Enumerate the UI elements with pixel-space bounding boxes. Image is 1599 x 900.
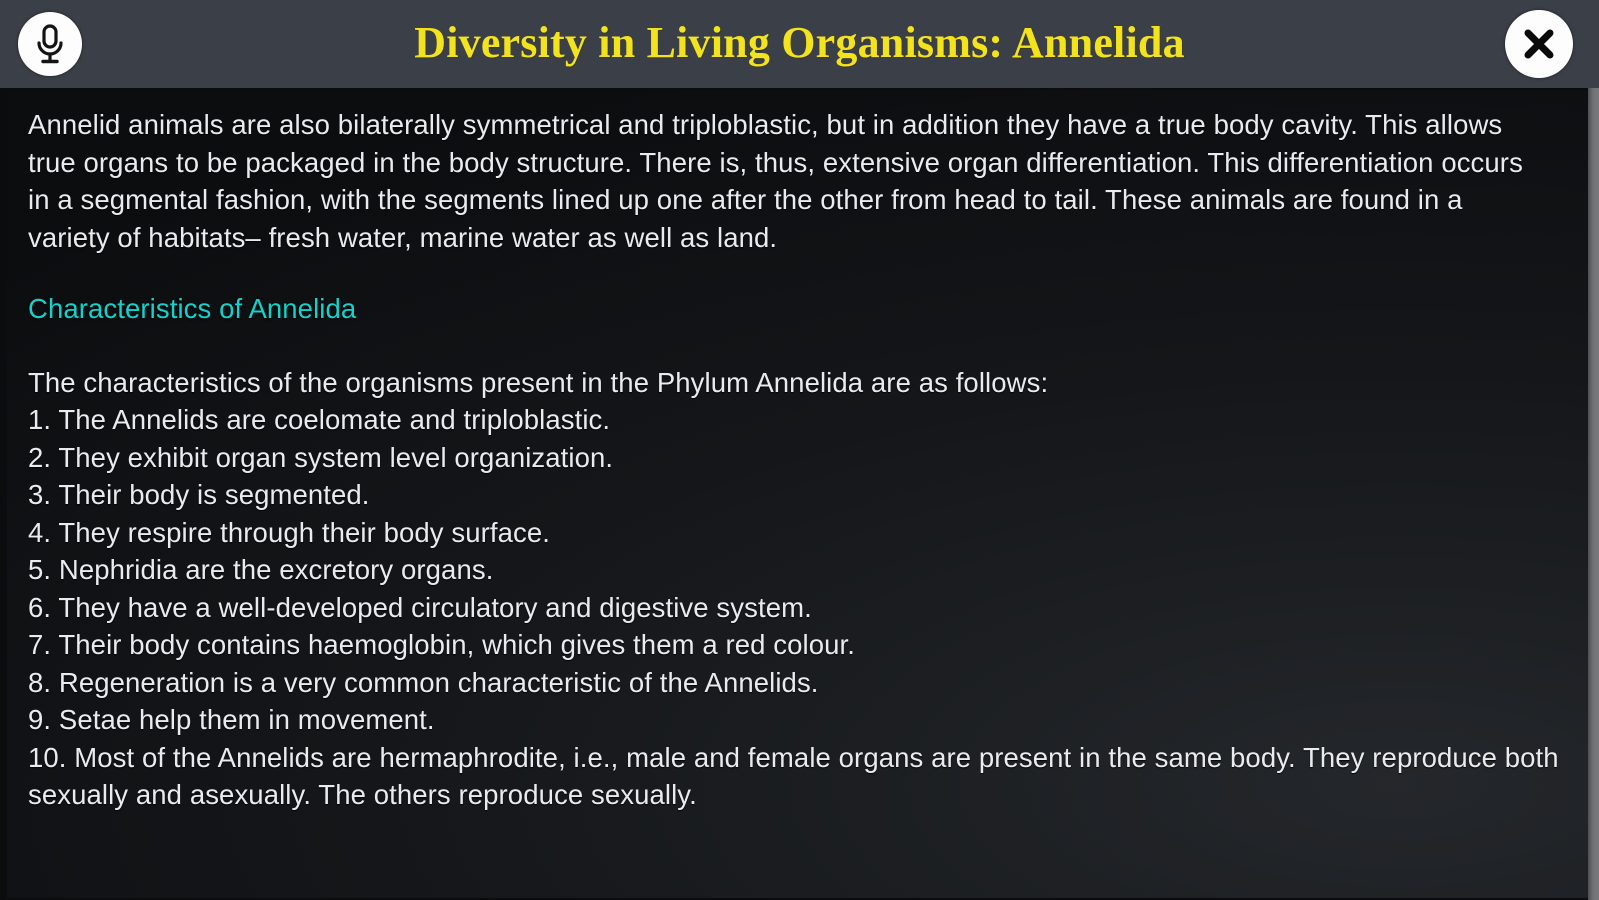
list-item: 8. Regeneration is a very common charact… xyxy=(28,664,1568,702)
list-item: 5. Nephridia are the excretory organs. xyxy=(28,551,1568,589)
list-item: 3. Their body is segmented. xyxy=(28,476,1568,514)
list-item: 1. The Annelids are coelomate and triplo… xyxy=(28,401,1568,439)
section-heading-characteristics: Characteristics of Annelida xyxy=(28,290,1568,328)
list-item: 4. They respire through their body surfa… xyxy=(28,514,1568,552)
document-viewer-window: Diversity in Living Organisms: Annelida … xyxy=(0,0,1599,900)
page-title: Diversity in Living Organisms: Annelida xyxy=(414,21,1185,65)
vertical-scrollbar[interactable] xyxy=(1588,88,1599,900)
microphone-button[interactable] xyxy=(18,12,82,76)
list-item: 10. Most of the Annelids are hermaphrodi… xyxy=(28,739,1568,814)
list-item: 2. They exhibit organ system level organ… xyxy=(28,439,1568,477)
content-wrapper: Annelid animals are also bilaterally sym… xyxy=(0,88,1599,900)
intro-paragraph: Annelid animals are also bilaterally sym… xyxy=(28,106,1533,256)
document-content-area: Annelid animals are also bilaterally sym… xyxy=(0,88,1588,900)
list-item: 6. They have a well-developed circulator… xyxy=(28,589,1568,627)
close-icon xyxy=(1519,24,1559,64)
close-button[interactable] xyxy=(1505,10,1573,78)
characteristics-list: 1. The Annelids are coelomate and triplo… xyxy=(28,401,1568,814)
characteristics-list-intro: The characteristics of the organisms pre… xyxy=(28,364,1568,402)
title-bar: Diversity in Living Organisms: Annelida xyxy=(0,0,1599,88)
microphone-icon xyxy=(33,23,67,65)
list-item: 7. Their body contains haemoglobin, whic… xyxy=(28,626,1568,664)
list-item: 9. Setae help them in movement. xyxy=(28,701,1568,739)
